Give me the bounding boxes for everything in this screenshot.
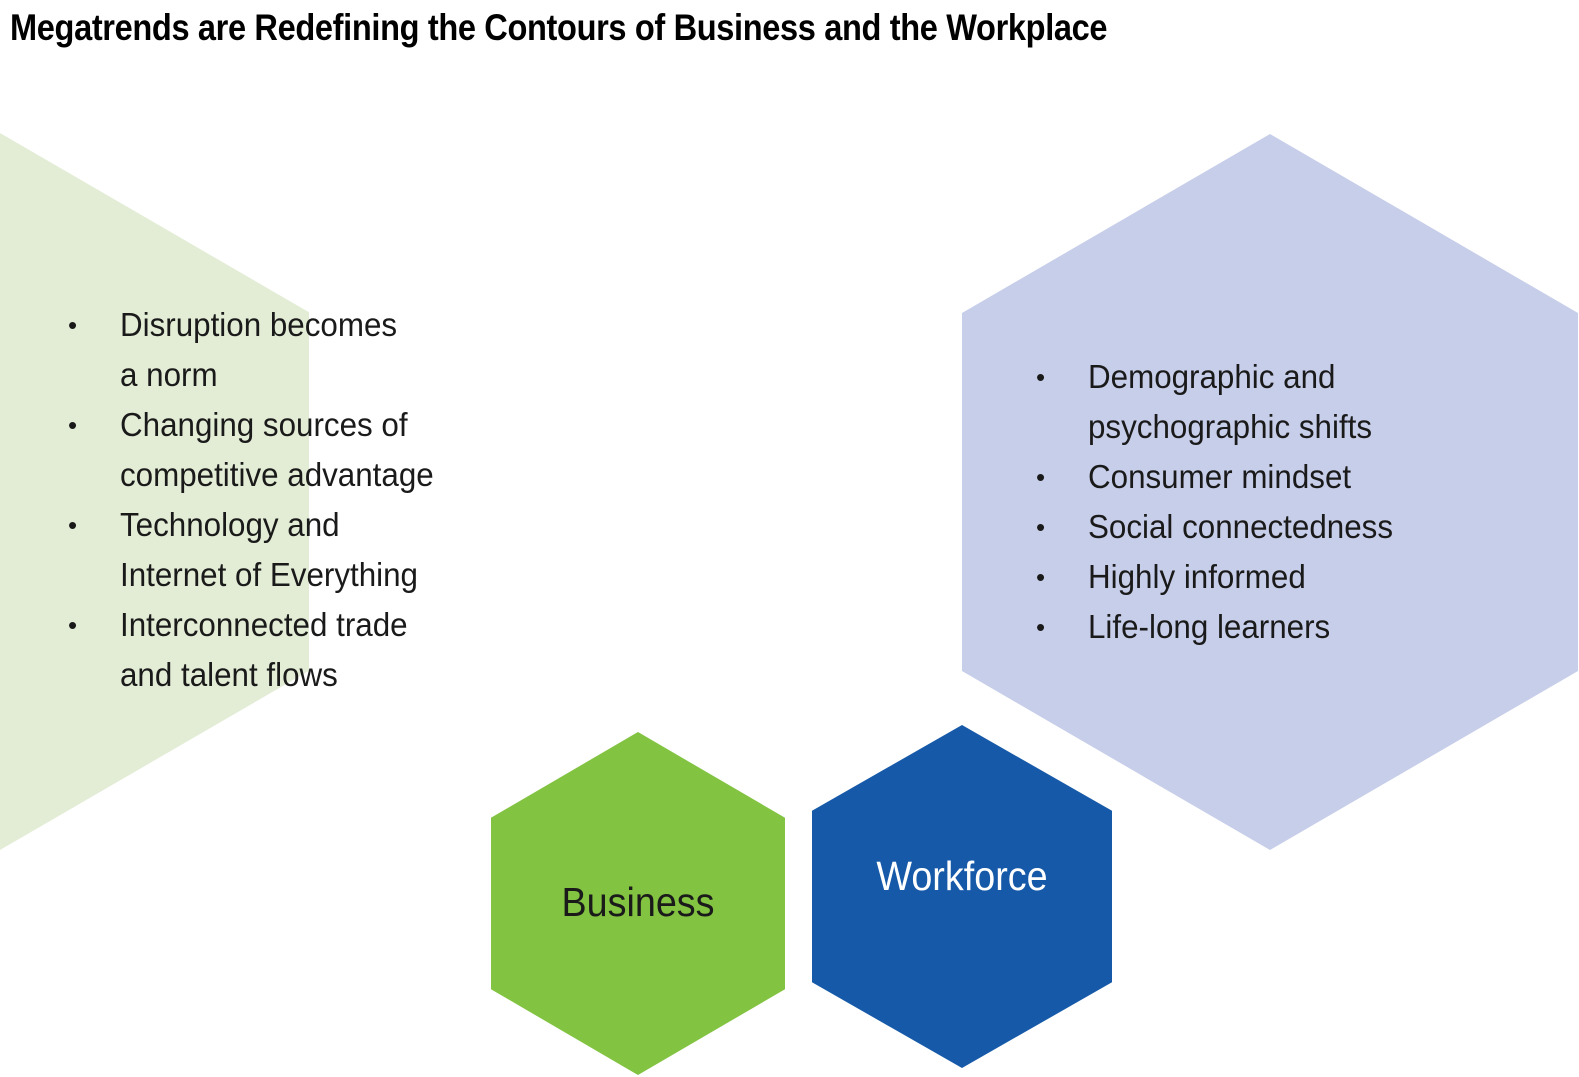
list-item: Demographic and psychographic shifts [1030, 352, 1540, 452]
list-item: Social connectedness [1030, 502, 1540, 552]
bullet-label: Interconnected trade and talent flows [120, 600, 559, 700]
list-item: Changing sources of competitive advantag… [62, 400, 582, 500]
business-trends-bullet-list: Disruption becomes a norm Changing sourc… [62, 300, 582, 700]
workforce-core-label: Workforce [824, 852, 1100, 900]
bullet-label: Consumer mindset [1088, 452, 1517, 502]
list-item: Technology and Internet of Everything [62, 500, 582, 600]
bullet-label: Social connectedness [1088, 502, 1517, 552]
bullet-label: Life-long learners [1088, 602, 1517, 652]
list-item: Consumer mindset [1030, 452, 1540, 502]
bullet-label: Disruption becomes a norm [120, 300, 559, 400]
bullet-label: Changing sources of competitive advantag… [120, 400, 559, 500]
workforce-trends-bullet-list: Demographic and psychographic shifts Con… [1030, 352, 1540, 652]
list-item: Disruption becomes a norm [62, 300, 582, 400]
list-item: Life-long learners [1030, 602, 1540, 652]
bullet-label: Demographic and psychographic shifts [1088, 352, 1517, 452]
bullet-label: Technology and Internet of Everything [120, 500, 559, 600]
list-item: Highly informed [1030, 552, 1540, 602]
business-core-label: Business [503, 878, 773, 926]
page-title: Megatrends are Redefining the Contours o… [10, 6, 1330, 50]
bullet-label: Highly informed [1088, 552, 1517, 602]
list-item: Interconnected trade and talent flows [62, 600, 582, 700]
